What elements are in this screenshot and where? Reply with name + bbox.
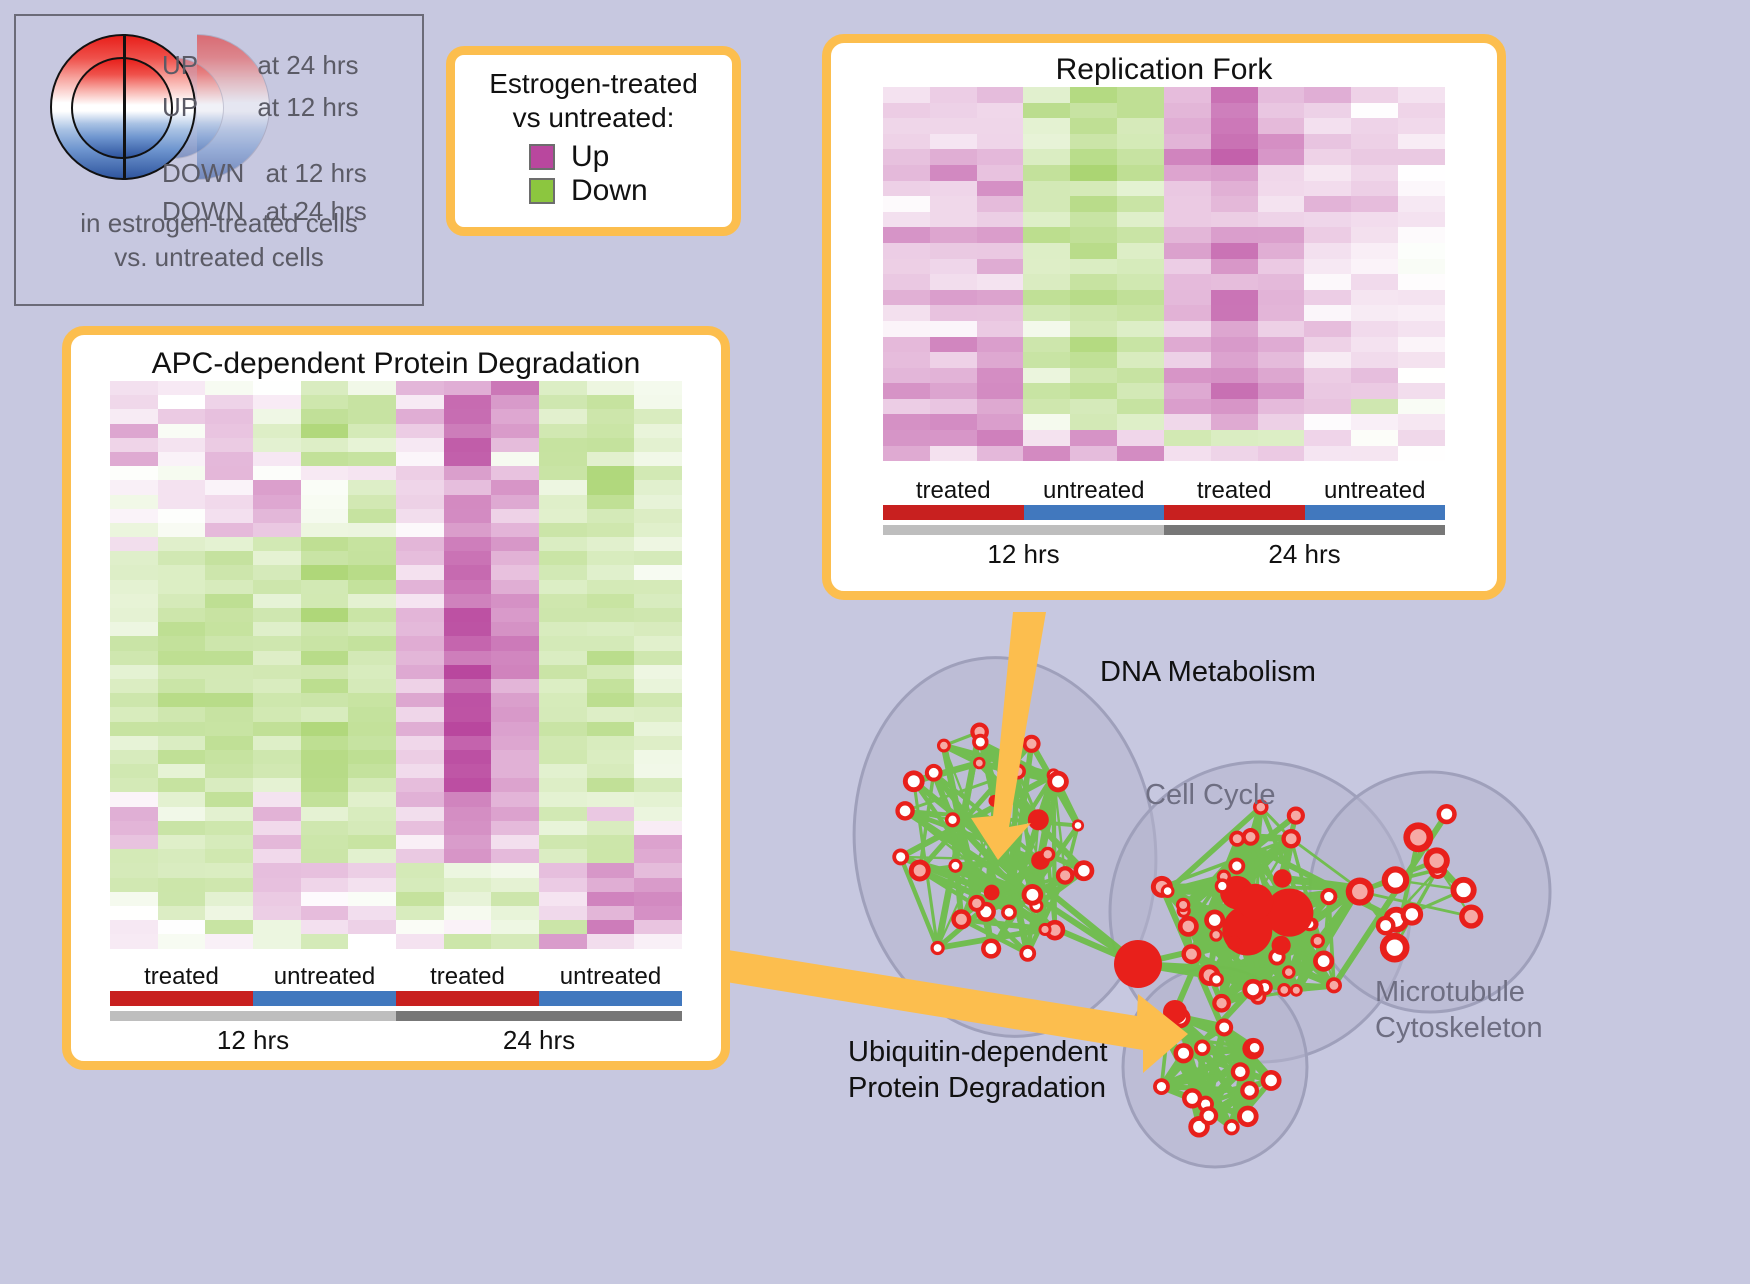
network-node-core [908,775,920,787]
heatmap-cell [253,849,301,863]
heatmap-cell [1351,243,1398,259]
heatmap-cell [883,446,930,462]
heatmap-cell [396,622,444,636]
heatmap-cell [1304,368,1351,384]
heatmap-cell [348,409,396,423]
heatmap-cell [883,290,930,306]
heatmap-apc-protein-degradation [110,381,682,949]
heatmap-cell [348,523,396,537]
heatmap-cell [1398,87,1445,103]
heatmap-cell [1070,274,1117,290]
network-node-core [1280,986,1288,994]
heatmap-cell [883,196,930,212]
heatmap-cell [110,679,158,693]
heatmap-cell [491,920,539,934]
network-node-core [1406,908,1418,920]
heatmap-cell [1351,196,1398,212]
network-node [1272,936,1291,955]
heatmap-cell [539,509,587,523]
heatmap-cell [1117,165,1164,181]
heatmap-cell [539,594,587,608]
heatmap-cell [491,622,539,636]
color-key-box: UP at 24 hrs UP at 12 hrs DOWN at 12 hrs… [14,14,424,306]
heatmap-cell [348,892,396,906]
heatmap-cell [539,608,587,622]
network-node-core [900,806,911,817]
heatmap-cell [539,480,587,494]
heatmap-cell [930,196,977,212]
heatmap-cell [253,580,301,594]
heatmap-cell [1258,399,1305,415]
heatmap-cell [396,835,444,849]
heatmap-cell [301,693,349,707]
heatmap-cell [253,565,301,579]
heatmap-cell [883,149,930,165]
heatmap-cell [396,495,444,509]
heatmap-cell [205,665,253,679]
heatmap-cell [930,212,977,228]
heatmap-cell [110,920,158,934]
heatmap-cell [491,722,539,736]
heatmap-cell [1304,165,1351,181]
heatmap-cell [587,523,635,537]
heatmap-cell [348,580,396,594]
heatmap-cell [110,381,158,395]
heatmap-cell [396,764,444,778]
heatmap-cell [587,693,635,707]
heatmap-cell [930,165,977,181]
heatmap-cell [205,679,253,693]
heatmap-cell [444,452,492,466]
heatmap-cell [1211,446,1258,462]
heatmap-cell [634,424,682,438]
heatmap-cell [1398,446,1445,462]
heatmap-cell [977,337,1024,353]
heatmap-cell [1164,118,1211,134]
heatmap-cell [301,608,349,622]
heatmap-cell [1258,134,1305,150]
network-node-core [934,944,942,952]
heatmap-cell [977,430,1024,446]
heatmap-cell [1023,383,1070,399]
heatmap-cell [158,381,206,395]
heatmap-cell [587,622,635,636]
heatmap-cell [253,892,301,906]
heatmap-cell [444,693,492,707]
heatmap-cell [1304,352,1351,368]
network-node-core [1387,940,1403,956]
network-node [1237,884,1273,920]
heatmap-cell [587,764,635,778]
heatmap-cell [1351,430,1398,446]
heatmap-cell [1304,87,1351,103]
heatmap-cell [396,892,444,906]
heatmap-cell [634,622,682,636]
bar-treated-24 [1164,505,1305,520]
heatmap-cell [1164,352,1211,368]
heatmap-cell [1117,446,1164,462]
network-node-core [956,914,967,925]
heatmap-cell [1211,165,1258,181]
heatmap-cell [883,212,930,228]
heatmap-cell [348,722,396,736]
heatmap-cell [444,892,492,906]
network-node-core [1026,889,1038,901]
heatmap-cell [587,594,635,608]
heatmap-cell [634,551,682,565]
heatmap-cell [444,792,492,806]
heatmap-cell [205,480,253,494]
legend-title-line2: vs untreated: [455,101,732,135]
heatmap-cell [634,509,682,523]
heatmap-cell [1351,103,1398,119]
heatmap-cell [444,849,492,863]
network-node-core [1291,811,1301,821]
heatmap-cell [491,381,539,395]
heatmap-cell [539,920,587,934]
cluster-label-text: Microtubule [1375,974,1543,1010]
cluster-label-text: Cytoskeleton [1375,1010,1543,1046]
heatmap-cell [348,835,396,849]
network-node-core [1219,1022,1229,1032]
heatmap-cell [110,750,158,764]
heatmap-cell [301,849,349,863]
heatmap-cell [1023,368,1070,384]
heatmap-cell [1258,165,1305,181]
heatmap-cell [205,707,253,721]
heatmap-cell [634,679,682,693]
heatmap-cell [1304,149,1351,165]
heatmap-cell [634,707,682,721]
heatmap-cell [1164,243,1211,259]
heatmap-cell [253,452,301,466]
heatmap-cell [1023,227,1070,243]
heatmap-cell [301,707,349,721]
heatmap-cell [587,934,635,948]
heatmap-cell [301,906,349,920]
heatmap-cell [1211,430,1258,446]
heatmap-cell [205,381,253,395]
network-node-core [986,943,997,954]
heatmap-cell [158,849,206,863]
heatmap-cell [539,466,587,480]
heatmap-cell [977,227,1024,243]
heatmap-cell [1164,274,1211,290]
heatmap-cell [301,920,349,934]
heatmap-cell [205,892,253,906]
heatmap-cell [348,509,396,523]
cluster-label-microtubule-cytoskeleton: Microtubule Cytoskeleton [1375,974,1543,1046]
heatmap-cell [634,608,682,622]
heatmap-cell [110,792,158,806]
heatmap-cell [587,409,635,423]
time-color-bar [110,1011,682,1021]
heatmap-cell [1117,383,1164,399]
heatmap-cell [977,181,1024,197]
heatmap-cell [1211,274,1258,290]
heatmap-cell [444,878,492,892]
network-node-core [940,742,948,750]
heatmap-cell [205,722,253,736]
legend-swatch-down [529,178,555,204]
heatmap-cell [930,321,977,337]
heatmap-cell [634,764,682,778]
heatmap-cell [883,383,930,399]
heatmap-cell [1117,227,1164,243]
heatmap-cell [396,580,444,594]
heatmap-cell [253,778,301,792]
heatmap-cell [1398,368,1445,384]
heatmap-cell [539,424,587,438]
heatmap-cell [491,565,539,579]
heatmap-cell [301,537,349,551]
legend-label-up: Up [571,141,609,173]
heatmap-cell [1117,352,1164,368]
heatmap-cell [253,807,301,821]
heatmap-cell [158,580,206,594]
heatmap-cell [253,523,301,537]
network-node-core [1285,968,1292,975]
heatmap-cell [253,381,301,395]
heatmap-cell [930,414,977,430]
heatmap-cell [205,594,253,608]
heatmap-cell [396,381,444,395]
heatmap-cell [491,906,539,920]
heatmap-cell [634,580,682,594]
heatmap-cell [301,509,349,523]
heatmap-cell [491,679,539,693]
legend-item-up: Up [529,141,732,173]
cluster-label-text: Protein Degradation [848,1070,1108,1106]
heatmap-cell [158,722,206,736]
heatmap-cell [1351,212,1398,228]
heatmap-cell [1258,383,1305,399]
heatmap-cell [444,580,492,594]
cluster-label-text: DNA Metabolism [1100,654,1316,690]
heatmap-cell [301,381,349,395]
heatmap-cell [1351,134,1398,150]
heatmap-cell [883,368,930,384]
heatmap-cell [1258,87,1305,103]
heatmap-cell [1211,196,1258,212]
heatmap-cell [444,565,492,579]
heatmap-cell [977,118,1024,134]
heatmap-cell [158,651,206,665]
heatmap-cell [301,580,349,594]
heatmap-cell [1258,290,1305,306]
heatmap-cell [1304,383,1351,399]
heatmap-cell [348,750,396,764]
heatmap-cell [930,103,977,119]
heatmap-cell [348,608,396,622]
network-graph: DNA Metabolism Cell Cycle Microtubule Cy… [790,612,1750,1279]
network-node-core [1242,1110,1254,1122]
heatmap-cell [1023,103,1070,119]
heatmap-cell [253,707,301,721]
heatmap-cell [883,103,930,119]
heatmap-cell [491,551,539,565]
heatmap-cell [977,165,1024,181]
network-node [1265,888,1313,936]
group-label-untreated-12: untreated [253,963,396,991]
heatmap-cell [1164,181,1211,197]
network-svg [790,612,1750,1279]
heatmap-cell [1304,399,1351,415]
network-node-core [1233,834,1242,843]
heatmap-cell [1398,134,1445,150]
heatmap-cell [253,509,301,523]
heatmap-cell [110,608,158,622]
legend-label-down: Down [571,175,648,207]
heatmap-cell [110,523,158,537]
heatmap-cell [634,381,682,395]
heatmap-cell [205,509,253,523]
heatmap-cell [444,651,492,665]
heatmap-cell [158,608,206,622]
heatmap-cell [1070,149,1117,165]
heatmap-cell [301,792,349,806]
heatmap-cell [253,736,301,750]
heatmap-cell [348,920,396,934]
heatmap-cell [1398,414,1445,430]
heatmap-cell [539,679,587,693]
heatmap-cell [1211,321,1258,337]
bar-untreated-12 [1024,505,1165,520]
heatmap-cell [977,134,1024,150]
heatmap-cell [301,778,349,792]
heatmap-cell [539,665,587,679]
heatmap-cell [1070,368,1117,384]
heatmap-cell [587,878,635,892]
heatmap-cell [158,438,206,452]
axis-replication-fork: treated untreated treated untreated 12 h… [883,477,1445,570]
heatmap-cell [1351,149,1398,165]
heatmap-cell [587,509,635,523]
heatmap-cell [634,934,682,948]
heatmap-cell [587,750,635,764]
heatmap-cell [539,537,587,551]
heatmap-cell [587,849,635,863]
heatmap-cell [301,878,349,892]
heatmap-cell [110,764,158,778]
heatmap-cell [491,807,539,821]
heatmap-cell [634,651,682,665]
heatmap-cell [1351,181,1398,197]
heatmap-cell [491,480,539,494]
panel-title-apc: APC-dependent Protein Degradation [71,347,721,381]
heatmap-cell [587,651,635,665]
heatmap-cell [1304,274,1351,290]
heatmap-cell [253,495,301,509]
heatmap-cell [301,438,349,452]
heatmap-cell [634,565,682,579]
heatmap-cell [883,337,930,353]
heatmap-cell [1304,414,1351,430]
heatmap-cell [110,466,158,480]
heatmap-cell [1070,414,1117,430]
heatmap-cell [491,651,539,665]
heatmap-cell [491,693,539,707]
network-node-core [1227,1123,1236,1132]
heatmap-cell [396,452,444,466]
heatmap-cell [977,87,1024,103]
network-node-core [896,852,905,861]
heatmap-cell [301,722,349,736]
heatmap-cell [444,438,492,452]
heatmap-cell [158,679,206,693]
heatmap-cell [1117,134,1164,150]
heatmap-cell [1211,181,1258,197]
heatmap-cell [158,509,206,523]
heatmap-cell [158,920,206,934]
group-color-bar [110,991,682,1006]
heatmap-cell [205,608,253,622]
heatmap-cell [396,438,444,452]
heatmap-cell [205,466,253,480]
heatmap-cell [883,259,930,275]
heatmap-cell [158,863,206,877]
heatmap-cell [930,259,977,275]
heatmap-cell [110,565,158,579]
network-node-core [1023,949,1032,958]
heatmap-cell [930,383,977,399]
heatmap-cell [1351,352,1398,368]
heatmap-cell [205,537,253,551]
heatmap-cell [158,466,206,480]
heatmap-cell [348,424,396,438]
heatmap-cell [1117,290,1164,306]
heatmap-cell [1070,227,1117,243]
network-node-core [1232,861,1241,870]
heatmap-cell [634,906,682,920]
group-labels: treated untreated treated untreated [110,963,682,991]
heatmap-cell [1023,446,1070,462]
heatmap-cell [348,679,396,693]
heatmap-cell [491,934,539,948]
heatmap-cell [587,736,635,750]
heatmap-cell [1351,368,1398,384]
heatmap-cell [587,778,635,792]
heatmap-cell [253,480,301,494]
heatmap-cell [110,551,158,565]
heatmap-cell [539,892,587,906]
heatmap-cell [444,707,492,721]
heatmap-cell [158,594,206,608]
heatmap-cell [301,594,349,608]
heatmap-cell [1164,103,1211,119]
heatmap-cell [634,537,682,551]
heatmap-cell [158,693,206,707]
heatmap-cell [1117,321,1164,337]
heatmap-cell [491,792,539,806]
heatmap-cell [1117,414,1164,430]
heatmap-cell [205,792,253,806]
heatmap-cell [587,863,635,877]
heatmap-cell [930,274,977,290]
heatmap-cell [1304,134,1351,150]
heatmap-cell [205,934,253,948]
heatmap-cell [205,580,253,594]
heatmap-cell [634,523,682,537]
heatmap-cell [348,480,396,494]
heatmap-cell [158,665,206,679]
heatmap-cell [205,750,253,764]
heatmap-cell [1351,383,1398,399]
heatmap-cell [634,693,682,707]
heatmap-cell [587,395,635,409]
heatmap-cell [539,722,587,736]
heatmap-cell [1023,274,1070,290]
